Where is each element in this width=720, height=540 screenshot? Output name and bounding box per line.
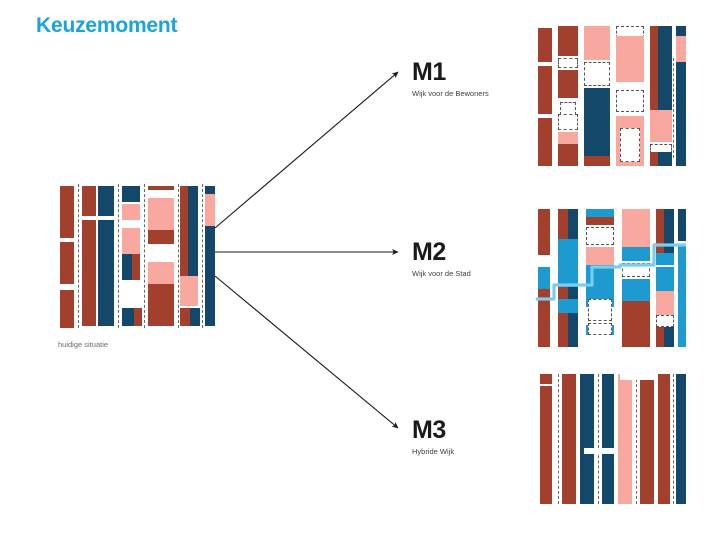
m2-map: [536, 205, 686, 353]
parcel-brown: [60, 290, 74, 328]
parcel-brown: [640, 380, 654, 504]
parcel-navy: [676, 62, 686, 166]
huidige-situatie-map: [58, 180, 215, 328]
parcel-brown: [148, 186, 174, 190]
street-dash: [558, 374, 559, 504]
parcel-brown: [82, 220, 96, 326]
parcel-navy: [602, 374, 614, 504]
parcel-brown: [82, 186, 96, 216]
parcel-brown: [148, 230, 174, 244]
parcel-brown: [134, 308, 142, 326]
parcel-brown: [650, 26, 658, 110]
parcel-pink: [618, 374, 632, 504]
dashed-parcel: [558, 58, 578, 68]
arrow-to-m1: [215, 72, 398, 228]
parcel-navy: [122, 254, 132, 280]
dashed-parcel: [584, 62, 610, 86]
parcel-navy: [98, 220, 114, 326]
parcel-navy: [658, 26, 672, 110]
parcel-pink: [180, 276, 198, 306]
street-dash: [78, 184, 79, 328]
parcel-navy: [205, 186, 215, 194]
parcel-navy: [676, 26, 686, 36]
parcel-brown: [538, 66, 552, 114]
street-dash: [636, 374, 637, 504]
parcel-pink: [148, 198, 174, 230]
option-m1-code: M1: [412, 60, 489, 85]
dashed-parcel: [558, 114, 578, 130]
parcel-brown: [180, 186, 188, 282]
parcel-pink: [122, 204, 140, 220]
parcel-navy: [584, 88, 610, 164]
parcel-brown: [538, 28, 552, 62]
option-m1-subtitle: Wijk voor de Bewoners: [412, 89, 489, 98]
parcel-brown: [60, 186, 74, 238]
street-dash: [673, 58, 674, 158]
dashed-parcel: [620, 128, 640, 162]
m1-map: [536, 22, 686, 170]
parcel-navy: [205, 226, 215, 326]
parcel-brown: [584, 156, 610, 166]
parcel-navy: [98, 186, 114, 216]
parcel-pink: [616, 36, 644, 82]
huidige-situatie-caption: huidige situatie: [58, 340, 108, 349]
parcel-pink: [558, 132, 578, 144]
parcel-navy: [122, 186, 140, 202]
parcel-pink: [205, 194, 215, 226]
parcel-navy: [188, 186, 198, 282]
parcel-brown: [538, 118, 552, 166]
option-m2-code: M2: [412, 240, 471, 265]
parcel-brown: [650, 152, 658, 166]
parcel-brown: [658, 374, 670, 504]
parcel-pink: [584, 26, 610, 60]
parcel-brown: [558, 144, 578, 166]
parcel-navy: [122, 308, 134, 326]
parcel-navy: [190, 308, 200, 326]
parcel-brown: [540, 374, 552, 384]
option-m3-subtitle: Hybride Wijk: [412, 447, 454, 456]
slide-canvas: Keuzemoment huidige situatie M1 Wijk voo…: [0, 0, 720, 540]
arrow-to-m3: [215, 276, 398, 428]
m3-map: [536, 372, 686, 509]
route-layer: [536, 205, 686, 353]
city-network-route: [536, 245, 686, 299]
street-dash: [144, 184, 145, 328]
parcel-pink: [650, 110, 672, 142]
parcel-brown: [132, 254, 140, 280]
parcel-brown: [148, 284, 174, 326]
parcel-white-gap: [602, 448, 618, 454]
option-m1: M1 Wijk voor de Bewoners: [412, 60, 489, 98]
street-dash: [118, 184, 119, 328]
parcel-brown: [562, 374, 576, 504]
parcel-brown: [558, 70, 578, 98]
option-m2: M2 Wijk voor de Stad: [412, 240, 471, 278]
parcel-navy: [658, 152, 672, 166]
street-dash: [178, 184, 179, 328]
street-dash: [202, 184, 203, 328]
street-dash: [598, 374, 599, 504]
option-m2-subtitle: Wijk voor de Stad: [412, 269, 471, 278]
parcel-brown: [180, 308, 190, 326]
street-dash: [673, 374, 674, 504]
parcel-brown: [540, 386, 552, 504]
parcel-brown: [558, 26, 578, 56]
option-m3: M3 Hybride Wijk: [412, 418, 454, 456]
page-title: Keuzemoment: [36, 14, 177, 38]
parcel-brown: [60, 242, 74, 284]
parcel-navy: [580, 374, 594, 504]
option-m3-code: M3: [412, 418, 454, 443]
dashed-parcel: [616, 90, 644, 112]
parcel-pink: [676, 36, 686, 62]
parcel-navy: [676, 374, 686, 504]
parcel-pink: [122, 228, 140, 254]
